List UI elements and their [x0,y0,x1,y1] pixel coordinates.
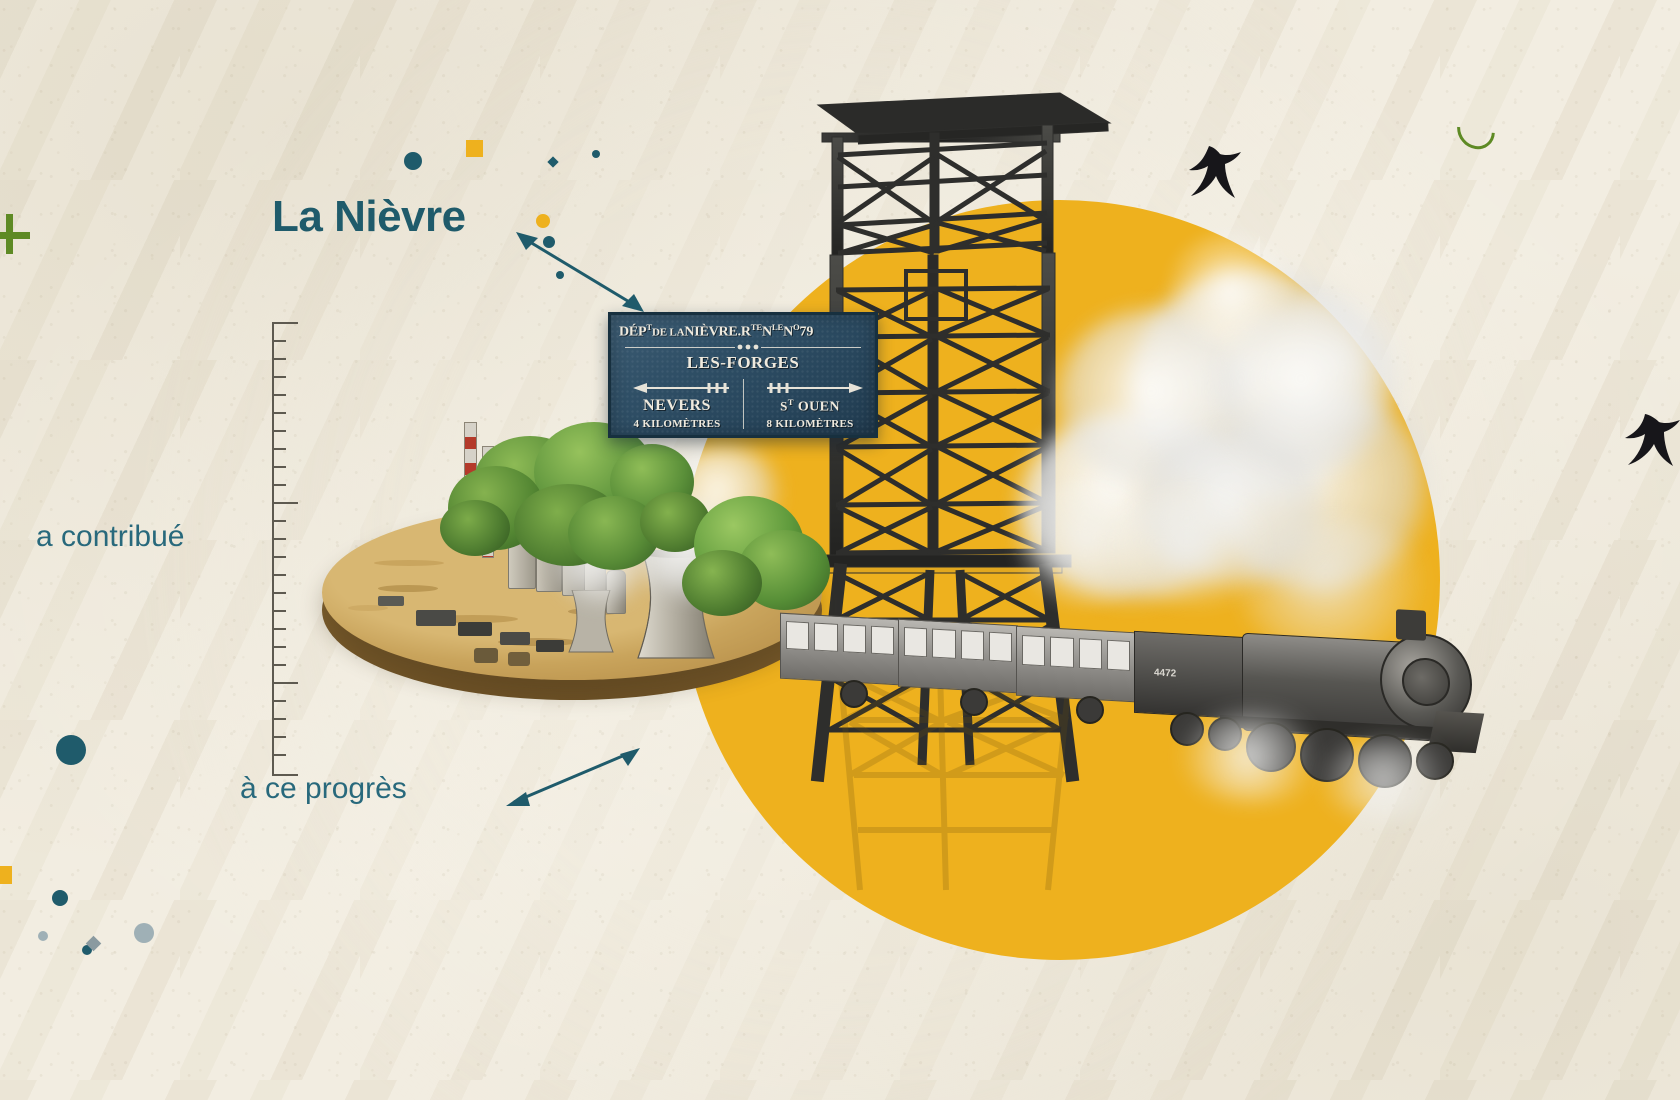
yellow-square-2 [0,866,12,884]
sign-header-route-sup: TE [751,322,762,332]
sign-place-name: LES-FORGES [611,353,875,373]
bird-icon [1175,140,1250,220]
sign-destination-left: NEVERS [611,397,743,415]
teal-dot-1 [404,152,422,170]
caption-a-contribue: a contribué [36,520,184,554]
green-plus-icon [0,232,30,239]
sign-destination-right-name: OUEN [794,400,840,415]
sign-destination-right-prefix: S [780,399,788,414]
industrial-island-diorama [318,400,838,710]
collage-canvas: DÉPTDE LANIÈVRE.RTENLENO79 LES-FORGES NE [0,0,1680,1100]
sign-header-number: 79 [800,325,814,340]
tender [1134,631,1246,719]
gray-dot-1 [38,931,48,941]
sign-distance-left: 4 KILOMÈTRES [611,418,743,430]
wheel-steam [1180,712,1330,802]
sign-arrow-right-icon [759,381,863,395]
steam-locomotive-train: 4472 [780,572,1470,812]
ruler-scale-icon [272,322,300,776]
sign-header-route: R [741,325,751,340]
sign-ornament-icon [735,342,761,352]
sign-header: DÉPTDE LANIÈVRE.RTENLENO79 [619,322,813,341]
teal-dot-3 [592,150,600,158]
teal-diamond-1 [547,156,558,167]
locomotive-chimney [1396,609,1426,641]
yellow-square-1 [466,140,483,157]
bird-icon [1615,410,1680,486]
sign-header-n1: N [762,325,772,340]
ruler-spine [272,322,274,776]
sign-header-place: NIÈVRE. [684,325,741,340]
teal-dot-4 [556,271,564,279]
arrow-to-title-icon [510,228,650,318]
road-sign: DÉPTDE LANIÈVRE.RTENLENO79 LES-FORGES NE [608,312,878,438]
caption-a-ce-progres: à ce progrès [240,772,407,806]
green-plus-icon-vertical [6,214,13,254]
locomotive-smoke [1110,242,1410,582]
sign-header-mid: DE LA [652,327,684,339]
teal-dot-5 [56,735,86,765]
teal-dot-2 [543,236,555,248]
yellow-dot-1 [536,214,550,228]
sign-header-n1-sup: LE [772,322,783,332]
sign-destination-right: ST OUEN [745,397,875,416]
sign-distance-right: 8 KILOMÈTRES [745,418,875,430]
teal-dot-6 [52,890,68,906]
green-arc-icon [1449,103,1502,157]
page-title: La Nièvre [272,192,466,242]
gray-dot-2 [134,923,154,943]
sign-header-n2: N [783,325,793,340]
sign-arrow-left-icon [633,381,731,395]
locomotive-number: 4472 [1154,667,1176,679]
arrow-to-progress-icon [500,744,644,810]
